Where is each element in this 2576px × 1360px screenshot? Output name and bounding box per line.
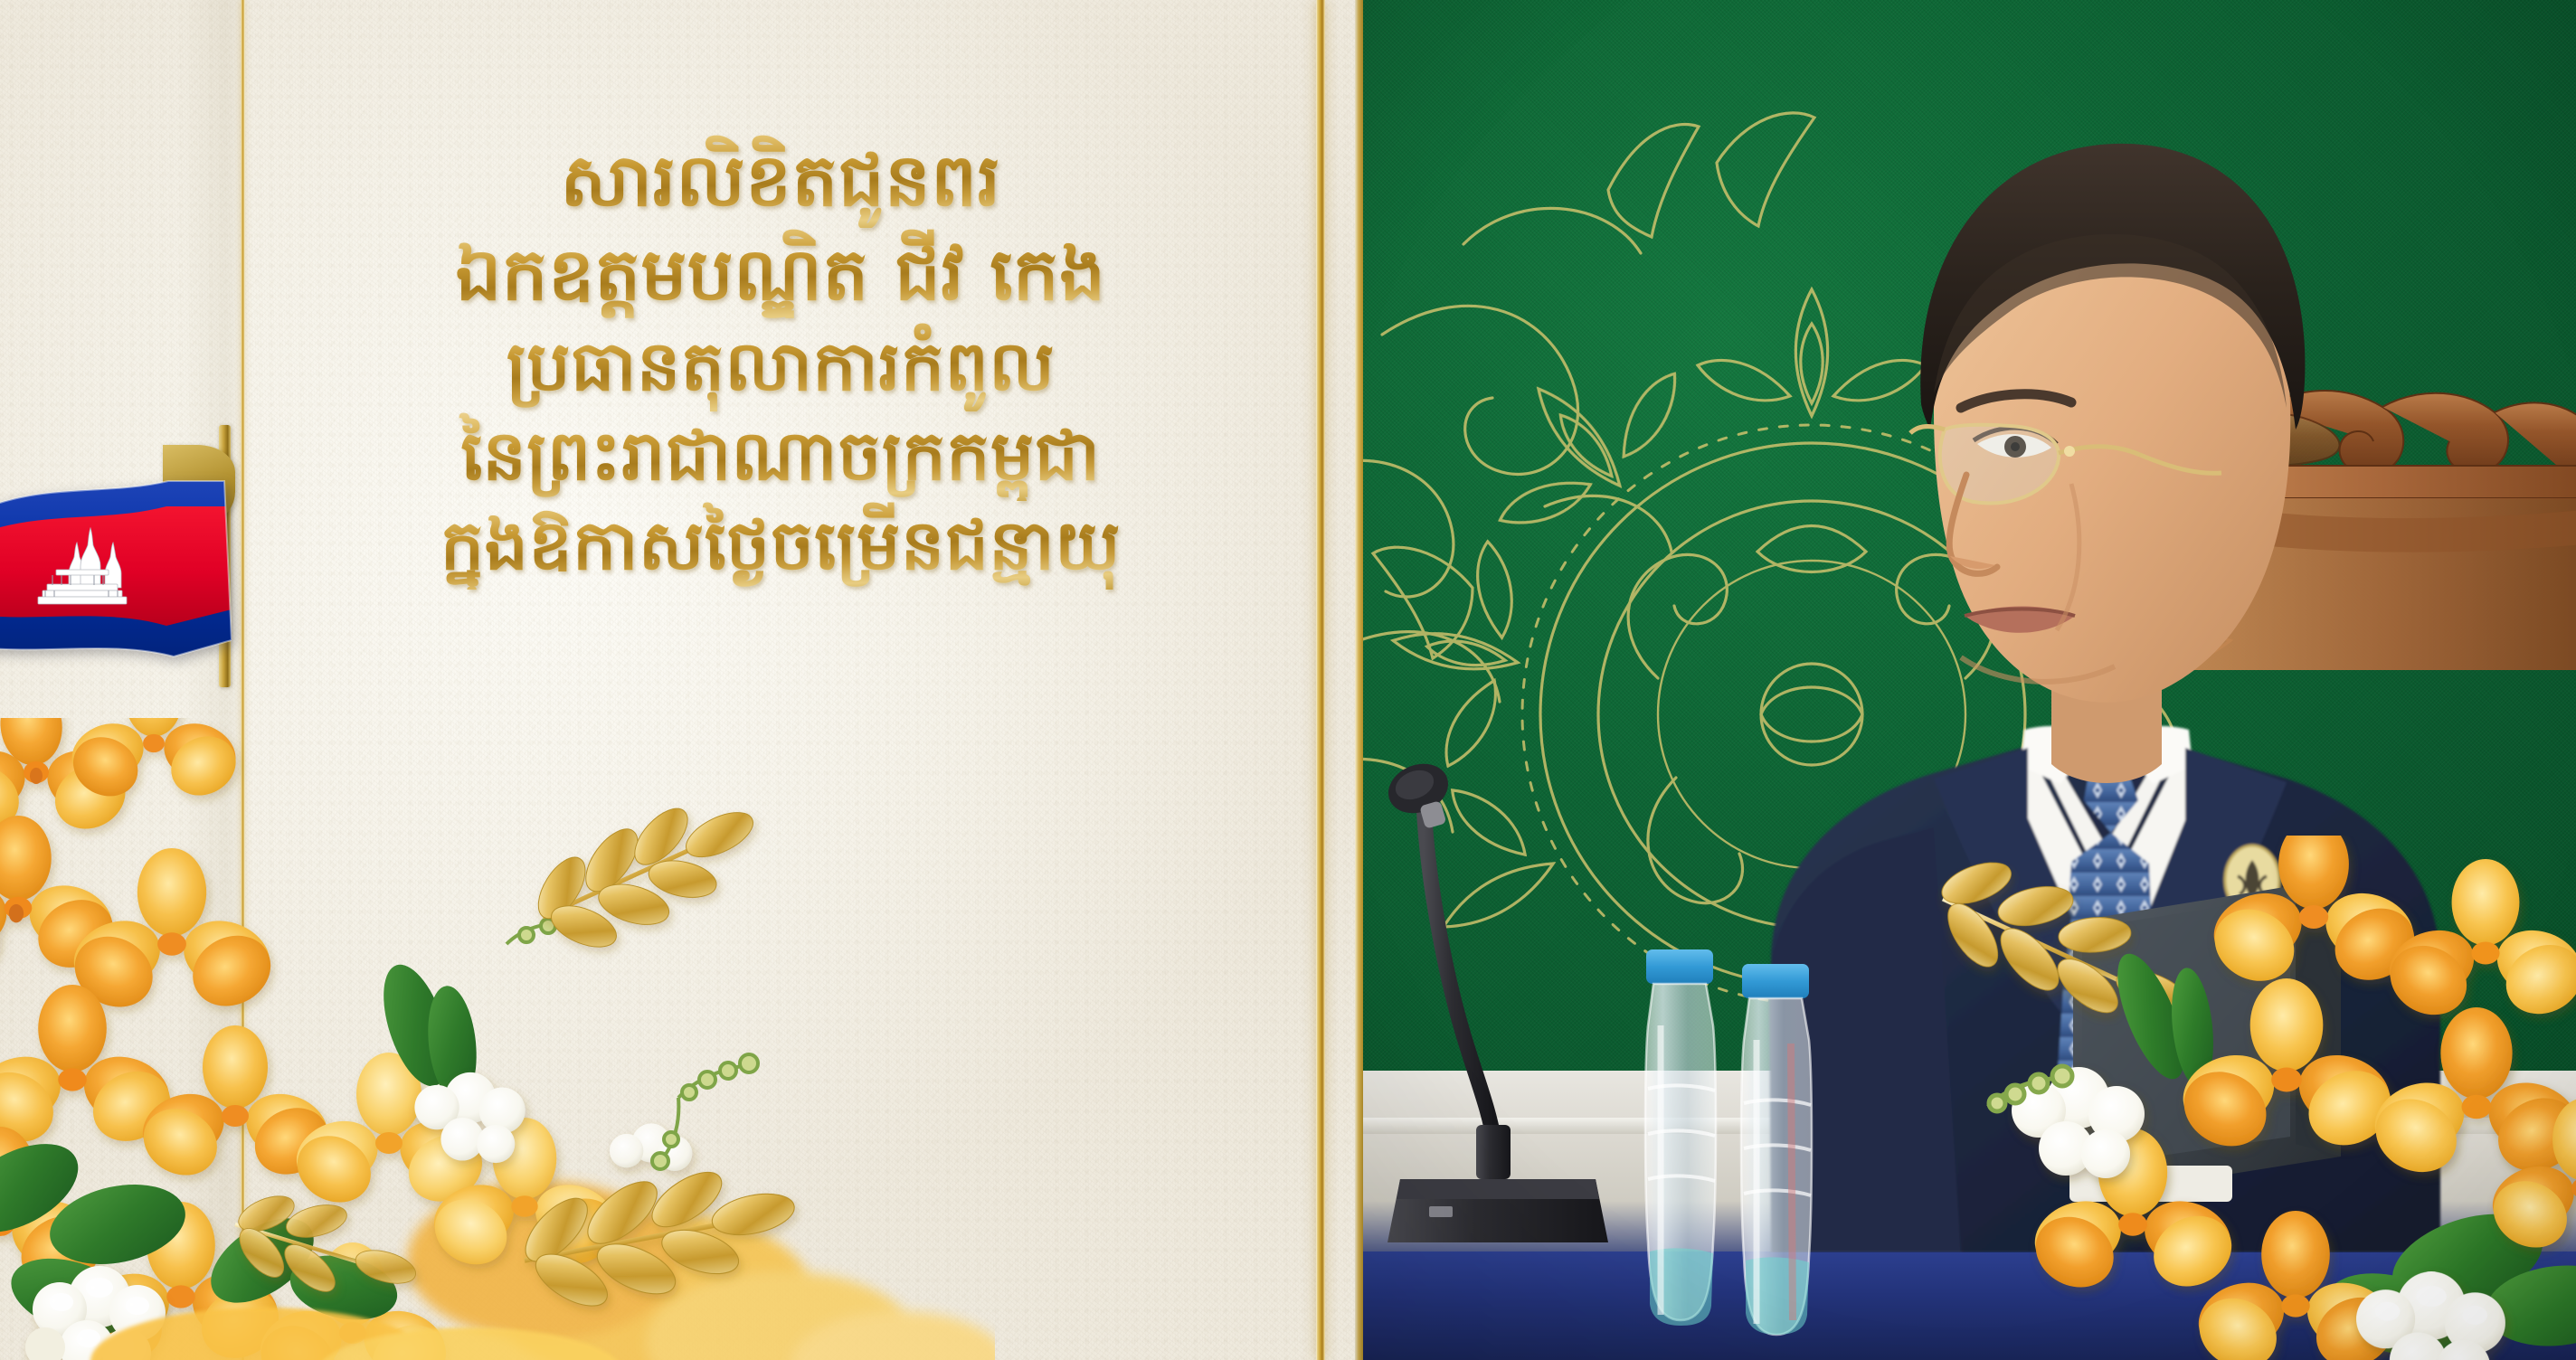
water-bottle <box>1645 949 1716 1326</box>
water-bottles <box>1626 917 1925 1342</box>
greeting-card-poster: សារលិខិតជូនពរ ឯកឧត្តមបណ្ឌិត ជីវ កេង ប្រធ… <box>0 0 2576 1360</box>
left-message-panel: សារលិខិតជូនពរ ឯកឧត្តមបណ្ឌិត ជីវ កេង ប្រធ… <box>0 0 1355 1360</box>
message-line-1: សារលិខិតជូនពរ <box>242 134 1319 228</box>
message-line-5: ក្នុងឱកាសថ្ងៃចម្រើនជន្មាយុ <box>242 501 1319 590</box>
floral-arrangement-left <box>0 718 995 1360</box>
cambodia-flag <box>0 425 289 687</box>
official-portrait-photo <box>1355 0 2576 1360</box>
khmer-message-block: សារលិខិតជូនពរ ឯកឧត្តមបណ្ឌិត ជីវ កេង ប្រធ… <box>242 134 1319 590</box>
flag-body <box>0 479 232 660</box>
gooseneck-microphone <box>1382 754 1617 1261</box>
photo-gold-edge <box>1355 0 1363 1360</box>
floral-arrangement-right <box>1925 836 2576 1360</box>
message-line-4: នៃព្រះរាជាណាចក្រកម្ពុជា <box>242 411 1319 501</box>
message-line-3: ប្រធានតុលាការកំពូល <box>242 322 1319 411</box>
message-line-2: ឯកឧត្តមបណ្ឌិត ជីវ កេង <box>242 228 1319 322</box>
water-bottle <box>1741 964 1812 1335</box>
